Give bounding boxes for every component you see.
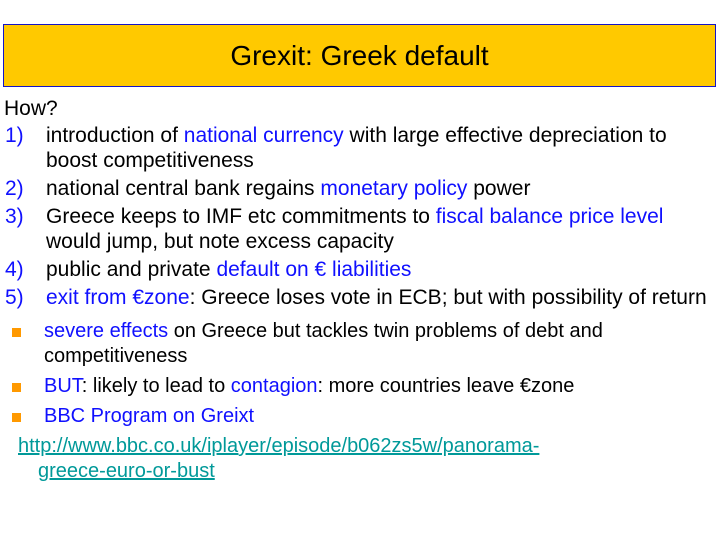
text-run: fiscal balance price level: [436, 205, 664, 228]
text-run: monetary policy: [320, 177, 467, 200]
list-item-text: Greece keeps to IMF etc commitments to f…: [46, 205, 663, 253]
text-run: : Greece loses vote in ECB; but with pos…: [190, 286, 707, 309]
list-item-text: severe effects on Greece but tackles twi…: [44, 320, 603, 367]
text-run: severe effects: [44, 320, 168, 342]
list-item-text: BUT: likely to lead to contagion: more c…: [44, 375, 574, 397]
numbered-list-item: 3)Greece keeps to IMF etc commitments to…: [0, 204, 720, 254]
list-item-text: public and private default on € liabilit…: [46, 258, 411, 281]
slide: Grexit: Greek default How? 1)introductio…: [0, 0, 720, 540]
square-bullet-icon: [12, 328, 21, 337]
link-line: http://www.bbc.co.uk/iplayer/episode/b06…: [0, 434, 720, 484]
slide-title: Grexit: Greek default: [230, 42, 488, 70]
text-run: contagion: [231, 375, 318, 397]
text-run: national central bank regains: [46, 177, 320, 200]
list-marker: 2): [5, 176, 41, 201]
text-run: introduction of: [46, 124, 184, 147]
text-run: : more countries leave €zone: [318, 375, 575, 397]
numbered-list-item: 5)exit from €zone: Greece loses vote in …: [0, 285, 720, 310]
list-item-text: BBC Program on Greixt: [44, 405, 254, 427]
list-marker: 3): [5, 204, 41, 229]
text-run: BBC Program on Greixt: [44, 405, 254, 427]
numbered-list-item: 2)national central bank regains monetary…: [0, 176, 720, 201]
slide-title-box: Grexit: Greek default: [3, 24, 716, 87]
bulleted-list-item: BBC Program on Greixt: [0, 404, 720, 429]
text-run: default on € liabilities: [216, 258, 411, 281]
square-bullet-icon: [12, 383, 21, 392]
list-item-text: national central bank regains monetary p…: [46, 177, 530, 200]
text-run: national currency: [184, 124, 344, 147]
link-line-2: greece-euro-or-bust: [18, 459, 720, 484]
list-item-text: introduction of national currency with l…: [46, 124, 667, 172]
link-line-1: http://www.bbc.co.uk/iplayer/episode/b06…: [18, 435, 539, 457]
list-marker: 5): [5, 285, 41, 310]
list-marker: 1): [5, 123, 41, 148]
list-marker: 4): [5, 257, 41, 282]
bulleted-list: severe effects on Greece but tackles twi…: [0, 319, 720, 429]
numbered-list-item: 4)public and private default on € liabil…: [0, 257, 720, 282]
numbered-list: 1)introduction of national currency with…: [0, 123, 720, 310]
text-run: : likely to lead to: [82, 375, 231, 397]
text-run: power: [467, 177, 530, 200]
slide-body: How? 1)introduction of national currency…: [0, 96, 720, 484]
bulleted-list-item: BUT: likely to lead to contagion: more c…: [0, 374, 720, 399]
square-bullet-icon: [12, 413, 21, 422]
bbc-iplayer-link[interactable]: http://www.bbc.co.uk/iplayer/episode/b06…: [18, 435, 720, 484]
numbered-list-item: 1)introduction of national currency with…: [0, 123, 720, 173]
text-run: public and private: [46, 258, 216, 281]
text-run: exit from €zone: [46, 286, 190, 309]
text-run: Greece keeps to IMF etc commitments to: [46, 205, 436, 228]
bulleted-list-item: severe effects on Greece but tackles twi…: [0, 319, 720, 369]
text-run: BUT: [44, 375, 82, 397]
list-item-text: exit from €zone: Greece loses vote in EC…: [46, 286, 707, 309]
text-run: would jump, but note excess capacity: [46, 230, 394, 253]
lead-text: How?: [0, 96, 720, 122]
